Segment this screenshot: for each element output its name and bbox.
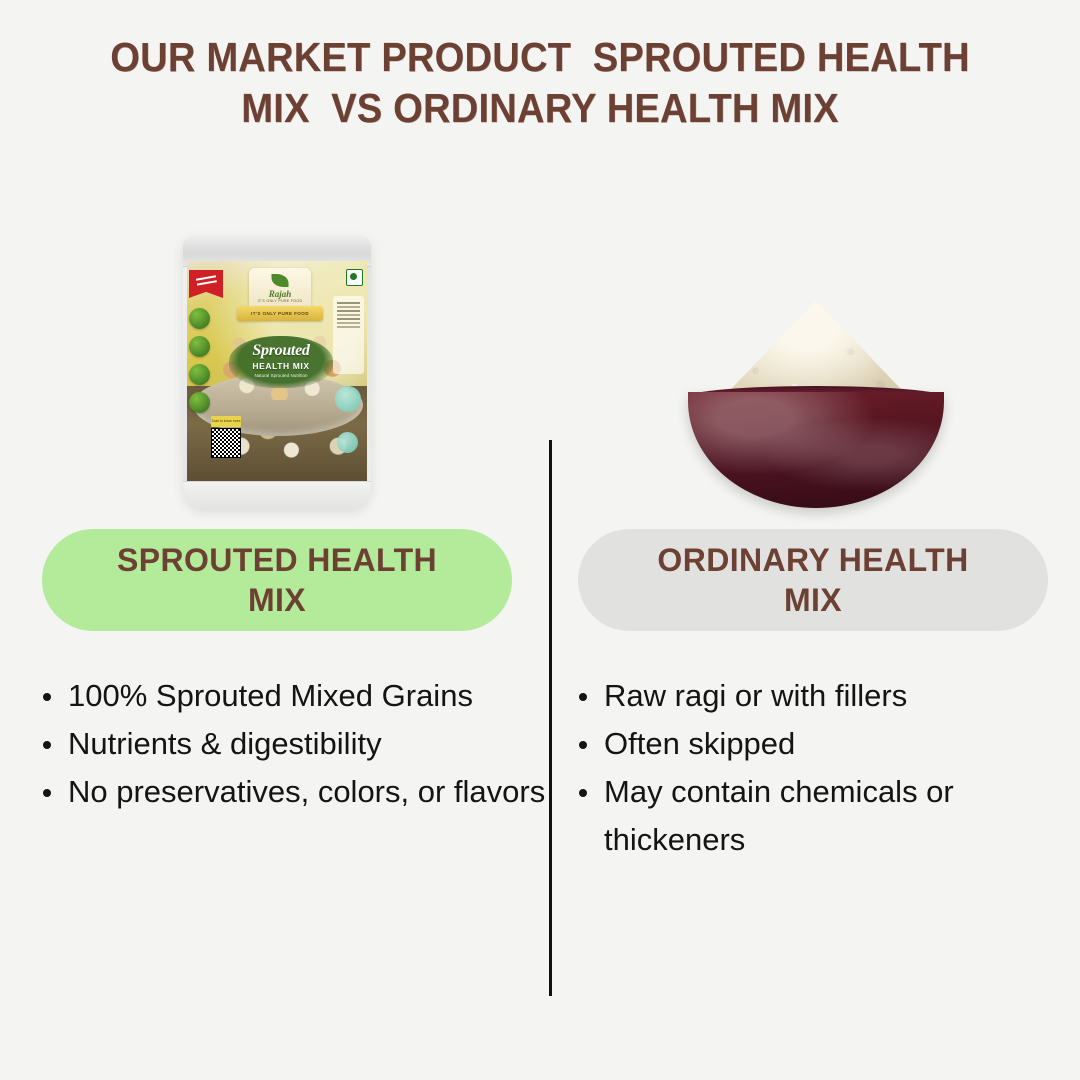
pouch-product-name-script: Sprouted (229, 342, 333, 360)
pouch-gold-banner: IT'S ONLY PURE FOOD (237, 306, 323, 321)
sprouted-health-mix-pouch-image: Sprouted HEALTH MIX Natural Sprouted Nut… (183, 236, 371, 508)
vegetarian-mark-icon (346, 269, 363, 286)
pouch-certification-badges (189, 308, 215, 420)
pouch-bottom-base (183, 481, 371, 508)
qr-code-icon (211, 428, 241, 458)
pouch-product-name-caps: HEALTH MIX (229, 361, 333, 371)
bowl-body (688, 392, 944, 508)
pouch-seal-badge-icon (337, 432, 358, 453)
pouch-seal-badge-icon (335, 386, 361, 412)
certification-badge-icon (189, 392, 210, 413)
page-title: OUR MARKET PRODUCT SPROUTED HEALTH MIX V… (38, 32, 1042, 134)
sprouted-health-mix-benefits-list: 100% Sprouted Mixed Grains Nutrients & d… (36, 672, 558, 816)
ordinary-health-mix-drawbacks-list: Raw ragi or with fillers Often skipped M… (572, 672, 1072, 864)
list-item: Raw ragi or with fillers (572, 672, 1072, 720)
pouch-brand-name: Rajah (249, 289, 311, 299)
pouch-banner-text: IT'S ONLY PURE FOOD (237, 306, 323, 321)
list-item: 100% Sprouted Mixed Grains (36, 672, 558, 720)
list-item: May contain chemicals or thickeners (572, 768, 1072, 864)
page-title-line-2: MIX VS ORDINARY HEALTH MIX (38, 83, 1042, 134)
certification-badge-icon (189, 336, 210, 357)
list-item: No preservatives, colors, or flavors (36, 768, 558, 816)
pouch-product-subtitle: Natural Sprouted Nutrition (229, 373, 333, 379)
list-item: Nutrients & digestibility (36, 720, 558, 768)
certification-badge-icon (189, 364, 210, 385)
sprouted-health-mix-header-pill: SPROUTED HEALTH MIX (42, 529, 512, 631)
certification-badge-icon (189, 308, 210, 329)
pouch-brand-tagline: IT'S ONLY PURE FOOD (249, 299, 311, 303)
pouch-product-name-label: Sprouted HEALTH MIX Natural Sprouted Nut… (229, 336, 333, 388)
leaf-icon (272, 274, 289, 287)
list-item: Often skipped (572, 720, 1072, 768)
pouch-nutrition-info-strip (333, 296, 364, 374)
ordinary-health-mix-header-pill: ORDINARY HEALTH MIX (578, 529, 1048, 631)
pouch-qr-label-text: Scan to know more (211, 416, 241, 427)
ordinary-health-mix-bowl-image (688, 300, 944, 508)
pouch-qr-label: Scan to know more (211, 416, 241, 427)
page-title-line-1: OUR MARKET PRODUCT SPROUTED HEALTH (38, 32, 1042, 83)
